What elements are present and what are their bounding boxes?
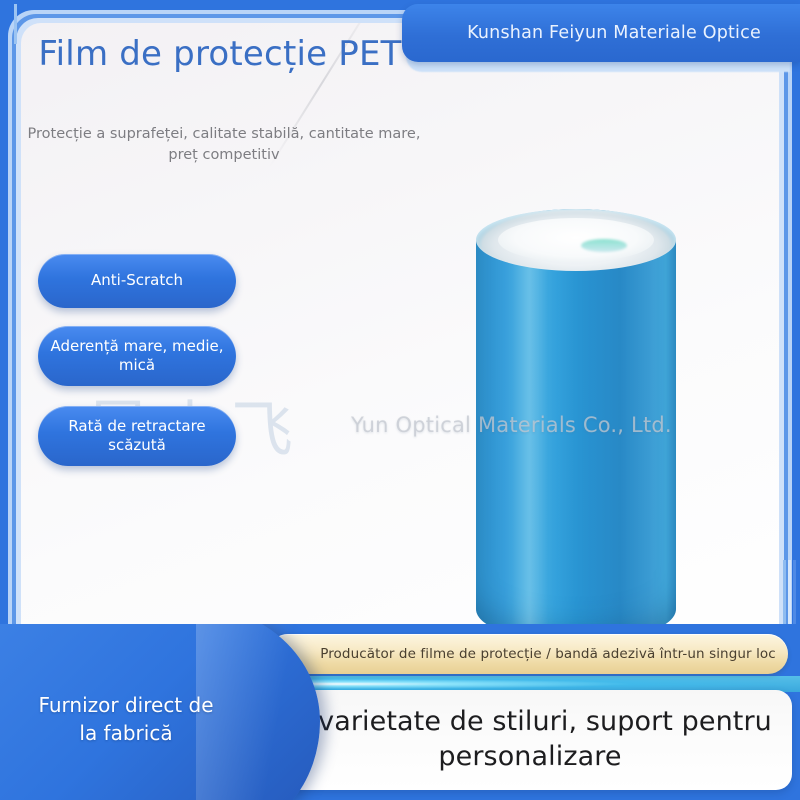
bottom-section: Producător de filme de protecție / bandă…: [0, 624, 800, 800]
feature-pill-label: Aderență mare, medie, mică: [48, 337, 226, 375]
feature-pill-shrink-rate[interactable]: Rată de retractare scăzută: [38, 406, 236, 466]
product-roll-core: [498, 218, 654, 262]
feature-pill-adherence[interactable]: Aderență mare, medie, mică: [38, 326, 236, 386]
page-title: Film de protecție PET: [0, 34, 440, 75]
feature-pill-label: Rată de retractare scăzută: [48, 417, 226, 455]
product-poster: 昆山飞 Yun Optical Materials Co., Ltd. Film…: [0, 0, 800, 800]
watermark-company-name: Yun Optical Materials Co., Ltd.: [351, 413, 672, 437]
feature-pill-label: Anti-Scratch: [91, 271, 183, 290]
brand-banner-label: Kunshan Feiyun Materiale Optice: [441, 23, 761, 43]
factory-supplier-label: Furnizor direct de la fabrică: [36, 692, 216, 747]
brand-banner: Kunshan Feiyun Materiale Optice: [402, 4, 800, 62]
gold-banner-label: Producător de filme de protecție / bandă…: [280, 646, 776, 662]
headline-label: O varietate de stiluri, suport pentru pe…: [244, 705, 792, 774]
page-subtitle: Protecție a suprafeței, calitate stabilă…: [24, 124, 424, 166]
headline-box: O varietate de stiluri, suport pentru pe…: [244, 690, 792, 790]
feature-pill-anti-scratch[interactable]: Anti-Scratch: [38, 254, 236, 308]
product-roll-gloss-highlight: [581, 239, 627, 252]
gold-banner: Producător de filme de protecție / bandă…: [268, 634, 788, 674]
